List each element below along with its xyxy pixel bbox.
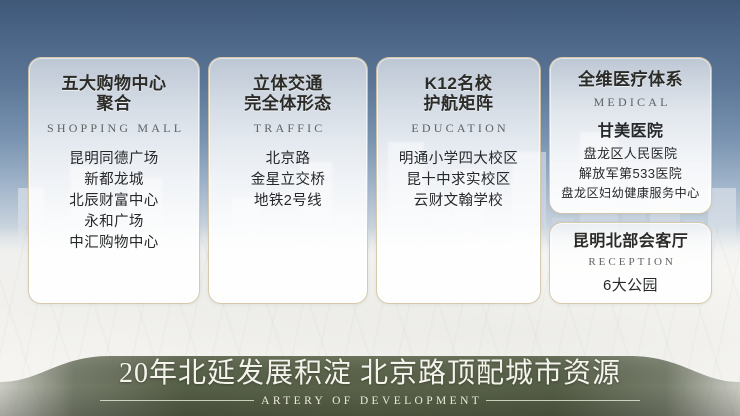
card-title-line1: 五大购物中心	[62, 74, 167, 93]
banner-subtitle: ARTERY OF DEVELOPMENT	[254, 395, 486, 407]
card-subtitle-traffic: TRAFFIC	[209, 121, 367, 136]
card-title-line2: 完全体形态	[209, 94, 367, 114]
card-list-education: 明通小学四大校区 昆十中求实校区 云财文翰学校	[377, 149, 540, 212]
card-title-traffic: 立体交通 完全体形态	[209, 74, 367, 114]
list-item: 永和广场	[29, 212, 199, 233]
list-item: 盘龙区妇幼健康服务中心	[550, 184, 711, 203]
list-item: 北辰财富中心	[29, 191, 199, 212]
card-title-shopping: 五大购物中心 聚合	[29, 74, 199, 114]
list-item-primary: 甘美医院	[550, 120, 711, 143]
list-item: 盘龙区人民医院	[550, 144, 711, 164]
info-card-traffic[interactable]: 立体交通 完全体形态 TRAFFIC 北京路 金星立交桥 地铁2号线	[208, 57, 368, 304]
card-subtitle-shopping: SHOPPING MALL	[29, 121, 199, 136]
list-item: 金星立交桥	[209, 170, 367, 191]
card-title-line1: 立体交通	[253, 74, 323, 93]
banner-subtitle-row: ARTERY OF DEVELOPMENT	[100, 395, 640, 407]
list-item: 昆十中求实校区	[377, 170, 540, 191]
card-title-line2: 护航矩阵	[377, 94, 540, 114]
bottom-banner: 20年北延发展积淀 北京路顶配城市资源 ARTERY OF DEVELOPMEN…	[0, 348, 740, 416]
banner-title: 20年北延发展积淀 北京路顶配城市资源	[119, 358, 621, 390]
card-title-line1: 全维医疗体系	[578, 70, 683, 89]
card-list-medical: 甘美医院 盘龙区人民医院 解放军第533医院 盘龙区妇幼健康服务中心	[550, 120, 711, 203]
list-item: 新都龙城	[29, 170, 199, 191]
card-title-line1: 昆明北部会客厅	[573, 233, 689, 250]
card-title-education: K12名校 护航矩阵	[377, 74, 540, 114]
info-card-shopping[interactable]: 五大购物中心 聚合 SHOPPING MALL 昆明同德广场 新都龙城 北辰财富…	[28, 57, 200, 304]
card-list-traffic: 北京路 金星立交桥 地铁2号线	[209, 149, 367, 212]
card-title-medical: 全维医疗体系	[550, 70, 711, 90]
card-list-shopping: 昆明同德广场 新都龙城 北辰财富中心 永和广场 中汇购物中心	[29, 149, 199, 254]
card-subtitle-reception: RECEPTION	[550, 256, 711, 268]
card-title-line2: 聚合	[29, 94, 199, 114]
list-item: 地铁2号线	[209, 191, 367, 212]
card-title-line1: K12名校	[425, 74, 493, 93]
card-subtitle-education: EDUCATION	[377, 121, 540, 136]
list-item: 解放军第533医院	[550, 164, 711, 184]
list-item: 北京路	[209, 149, 367, 170]
banner-rule-right	[486, 400, 640, 401]
info-card-reception[interactable]: 昆明北部会客厅 RECEPTION 6大公园	[549, 222, 712, 304]
list-item: 明通小学四大校区	[377, 149, 540, 170]
banner-rule-left	[100, 400, 254, 401]
info-card-education[interactable]: K12名校 护航矩阵 EDUCATION 明通小学四大校区 昆十中求实校区 云财…	[376, 57, 541, 304]
card-title-reception: 昆明北部会客厅	[550, 232, 711, 252]
list-item: 昆明同德广场	[29, 149, 199, 170]
poster-stage: 五大购物中心 聚合 SHOPPING MALL 昆明同德广场 新都龙城 北辰财富…	[0, 0, 740, 416]
info-card-medical[interactable]: 全维医疗体系 MEDICAL 甘美医院 盘龙区人民医院 解放军第533医院 盘龙…	[549, 57, 712, 214]
list-item: 云财文翰学校	[377, 191, 540, 212]
list-item: 6大公园	[550, 275, 711, 296]
card-list-reception: 6大公园	[550, 275, 711, 296]
card-subtitle-medical: MEDICAL	[550, 95, 711, 110]
list-item: 中汇购物中心	[29, 233, 199, 254]
